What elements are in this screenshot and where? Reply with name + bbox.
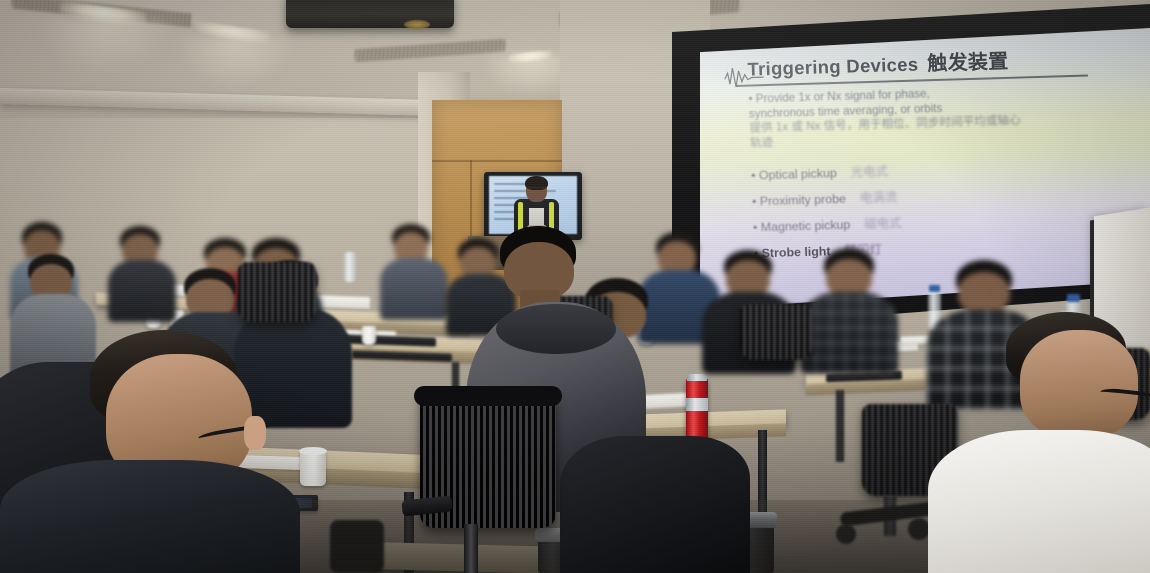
slide-title-en: Triggering Devices <box>747 54 919 80</box>
chair-wheel[interactable] <box>836 524 856 544</box>
hood <box>496 304 616 354</box>
ear <box>244 416 266 450</box>
soda-can-top <box>687 374 707 381</box>
wood-panel-seam <box>432 160 562 162</box>
jacket-stripe <box>549 202 554 230</box>
bullet-label-cn: 电涡流 <box>860 190 898 205</box>
paper-cup-rim <box>299 447 327 455</box>
water-bottle <box>344 252 356 282</box>
bullet-label-cn: 磁电式 <box>864 216 902 231</box>
slide-body: • Provide 1x or Nx signal for phase, syn… <box>748 82 1124 267</box>
ceiling-light-glow <box>36 18 176 74</box>
bottle-cap <box>1067 294 1080 302</box>
office-chair-back[interactable] <box>238 262 316 322</box>
chair-frame[interactable] <box>414 386 562 406</box>
glasses-icon <box>527 187 546 192</box>
desk-leg <box>836 390 844 462</box>
bullet-label: Proximity probe <box>760 192 847 209</box>
soda-can-band <box>686 398 708 411</box>
projector-lens-icon <box>404 20 430 29</box>
paper-cup <box>300 450 326 486</box>
chair-base[interactable] <box>330 520 384 573</box>
bullet-label: Magnetic pickup <box>761 218 851 235</box>
bullet-label-cn: 光电式 <box>851 164 889 179</box>
slide-title-cn: 触发装置 <box>927 51 1009 75</box>
paper-cup <box>362 326 376 345</box>
ceiling-light-glow <box>172 36 298 88</box>
bottle-cap <box>929 285 940 292</box>
bullet-label: Optical pickup <box>759 166 837 182</box>
chair-wheel[interactable] <box>908 518 930 540</box>
classroom-photo: Triggering Devices触发装置 • Provide 1x or N… <box>0 0 1150 573</box>
bullet-label: Strobe light <box>761 244 830 260</box>
chair-post[interactable] <box>464 524 478 573</box>
office-chair-back[interactable] <box>740 304 812 360</box>
